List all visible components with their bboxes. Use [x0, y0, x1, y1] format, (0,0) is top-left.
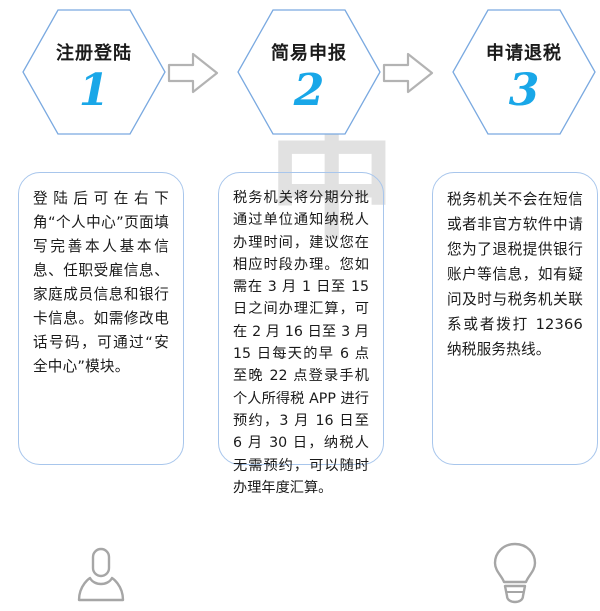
- flowchart-canvas: 中 注册登陆 1 简易申报 2 申请退税 3 登陆后可在右下: [0, 0, 600, 474]
- step-number-3: 3: [452, 65, 596, 116]
- arrow-right-glyph: [167, 50, 219, 96]
- user-glyph: [73, 545, 129, 607]
- user-icon: [19, 541, 183, 611]
- info-card-3-text: 税务机关不会在短信或者非官方软件中请您为了退税提供银行账户等信息，如有疑问及时与…: [447, 187, 583, 362]
- lightbulb-icon: [433, 535, 597, 611]
- step-label-1: 注册登陆: [22, 39, 166, 65]
- info-card-1: 登陆后可在右下角“个人中心”页面填写完善本人基本信息、任职受雇信息、家庭成员信息…: [18, 172, 184, 465]
- step-hexagon-1[interactable]: 注册登陆 1: [22, 9, 166, 135]
- info-card-1-text: 登陆后可在右下角“个人中心”页面填写完善本人基本信息、任职受雇信息、家庭成员信息…: [33, 187, 169, 379]
- arrow-right-glyph: [382, 50, 434, 96]
- step-number-2: 2: [237, 65, 381, 116]
- lightbulb-glyph: [489, 540, 541, 606]
- step-hexagon-2[interactable]: 简易申报 2: [237, 9, 381, 135]
- step-label-2: 简易申报: [237, 39, 381, 65]
- arrow-right-icon-2: [382, 50, 434, 96]
- info-card-2: 税务机关将分期分批通过单位通知纳税人办理时间，建议您在相应时段办理。您如需在 3…: [218, 172, 384, 465]
- step-label-3: 申请退税: [452, 39, 596, 65]
- step-number-1: 1: [22, 65, 166, 116]
- arrow-right-icon-1: [167, 50, 219, 96]
- step-hexagon-3[interactable]: 申请退税 3: [452, 9, 596, 135]
- info-card-2-text: 税务机关将分期分批通过单位通知纳税人办理时间，建议您在相应时段办理。您如需在 3…: [233, 187, 369, 499]
- info-card-3: 税务机关不会在短信或者非官方软件中请您为了退税提供银行账户等信息，如有疑问及时与…: [432, 172, 598, 465]
